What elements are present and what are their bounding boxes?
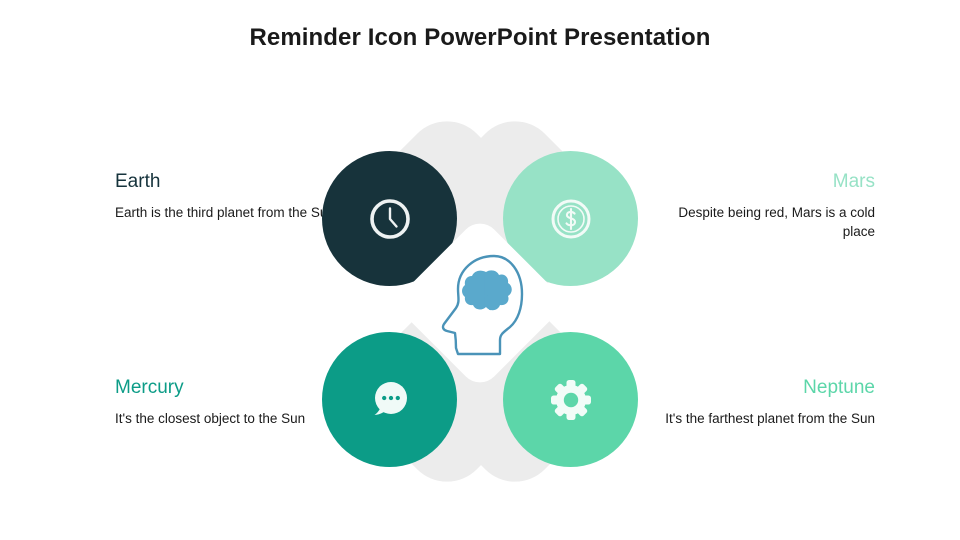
head-brain-icon xyxy=(430,248,530,360)
text-block-mars: Mars Despite being red, Mars is a cold p… xyxy=(645,172,900,242)
heading-neptune: Neptune xyxy=(645,378,875,399)
text-block-mercury: Mercury It's the closest object to the S… xyxy=(85,378,345,428)
description-neptune: It's the farthest planet from the Sun xyxy=(645,409,875,429)
page-title: Reminder Icon PowerPoint Presentation xyxy=(0,24,960,52)
text-block-neptune: Neptune It's the farthest planet from th… xyxy=(645,378,900,428)
gear-icon xyxy=(546,375,596,425)
dollar-coin-icon xyxy=(547,195,595,243)
description-mercury: It's the closest object to the Sun xyxy=(115,409,345,429)
quadrant-diagram xyxy=(312,140,648,466)
heading-mars: Mars xyxy=(645,172,875,193)
slide-canvas: Reminder Icon PowerPoint Presentation Ea… xyxy=(0,0,960,540)
description-mars: Despite being red, Mars is a cold place xyxy=(645,203,875,242)
heading-mercury: Mercury xyxy=(115,378,345,399)
text-block-earth: Earth Earth is the third planet from the… xyxy=(85,172,345,222)
chat-bubble-icon xyxy=(365,375,415,425)
description-earth: Earth is the third planet from the Sun xyxy=(115,203,345,223)
clock-icon xyxy=(366,195,414,243)
heading-earth: Earth xyxy=(115,172,345,193)
